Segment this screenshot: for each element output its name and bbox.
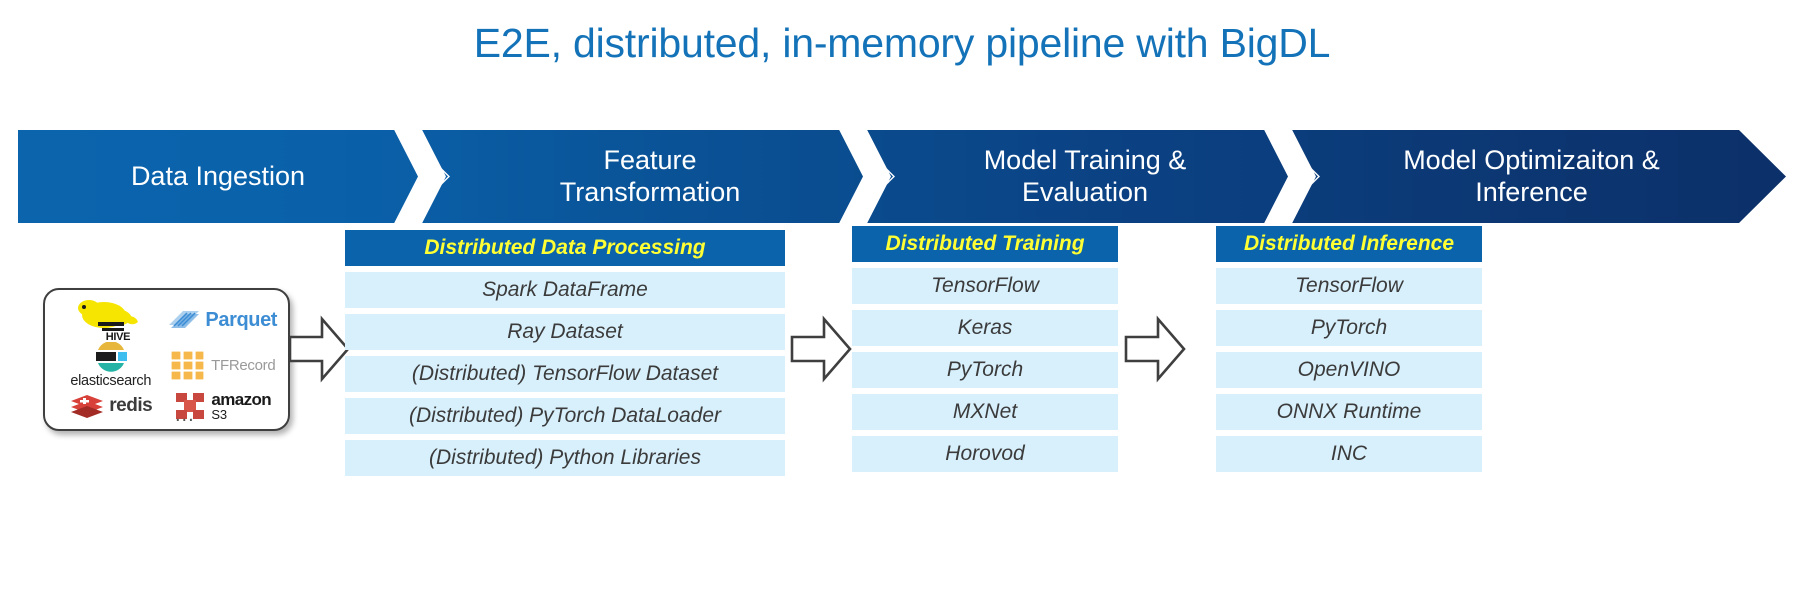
hive-label: HIVE xyxy=(106,331,130,343)
redis-label: redis xyxy=(109,395,152,417)
pipeline-stage-banner: Data Ingestion Feature Transformation Mo… xyxy=(18,130,1786,223)
parquet-logo: Parquet xyxy=(167,307,277,333)
tfrecord-logo: TFRecord xyxy=(169,349,275,383)
elasticsearch-icon xyxy=(94,342,128,372)
stack-header: Distributed Data Processing xyxy=(345,230,785,266)
stage-label: Model Optimizaiton & Inference xyxy=(1403,145,1660,208)
stack-row[interactable]: TensorFlow xyxy=(1216,268,1482,304)
flow-arrow-transform-to-training xyxy=(790,313,852,390)
stack-distributed-inference: Distributed Inference TensorFlow PyTorch… xyxy=(1216,226,1482,472)
page-title: E2E, distributed, in-memory pipeline wit… xyxy=(0,20,1804,67)
stack-row[interactable]: (Distributed) Python Libraries xyxy=(345,440,785,476)
stage-model-optimization-inference[interactable]: Model Optimizaiton & Inference xyxy=(1273,130,1786,223)
parquet-icon xyxy=(167,307,201,333)
stack-row[interactable]: (Distributed) TensorFlow Dataset xyxy=(345,356,785,392)
stack-row[interactable]: Ray Dataset xyxy=(345,314,785,350)
stack-row[interactable]: PyTorch xyxy=(1216,310,1482,346)
stack-header: Distributed Inference xyxy=(1216,226,1482,262)
stack-distributed-data-processing: Distributed Data Processing Spark DataFr… xyxy=(345,230,785,476)
stack-row[interactable]: MXNet xyxy=(852,394,1118,430)
stage-model-training-evaluation[interactable]: Model Training & Evaluation xyxy=(848,130,1318,223)
elasticsearch-logo: elasticsearch xyxy=(70,342,151,389)
stack-row[interactable]: INC xyxy=(1216,436,1482,472)
stack-row[interactable]: Horovod xyxy=(852,436,1118,472)
amazon-label: amazon xyxy=(211,391,271,408)
flow-arrow-training-to-inference xyxy=(1124,313,1186,390)
stack-header: Distributed Training xyxy=(852,226,1118,262)
redis-icon xyxy=(69,393,105,419)
data-sources-box: HIVE Parquet xyxy=(43,288,290,431)
stage-data-ingestion[interactable]: Data Ingestion xyxy=(18,130,448,223)
hive-logo: HIVE xyxy=(74,298,148,342)
stack-row[interactable]: OpenVINO xyxy=(1216,352,1482,388)
stage-label: Feature Transformation xyxy=(560,145,741,208)
stack-row[interactable]: PyTorch xyxy=(852,352,1118,388)
stage-label: Model Training & Evaluation xyxy=(984,145,1187,208)
stack-row[interactable]: TensorFlow xyxy=(852,268,1118,304)
parquet-label: Parquet xyxy=(205,309,277,332)
s3-label: S3 xyxy=(211,408,271,421)
stack-row[interactable]: Spark DataFrame xyxy=(345,272,785,308)
stage-feature-transformation[interactable]: Feature Transformation xyxy=(403,130,893,223)
sources-ellipsis: ... xyxy=(175,404,195,427)
redis-logo: redis xyxy=(69,393,152,419)
tfrecord-label: TFRecord xyxy=(211,357,275,374)
stack-distributed-training: Distributed Training TensorFlow Keras Py… xyxy=(852,226,1118,472)
stack-row[interactable]: (Distributed) PyTorch DataLoader xyxy=(345,398,785,434)
stage-label: Data Ingestion xyxy=(131,161,305,192)
flow-arrow-ingestion-to-transform xyxy=(288,313,350,390)
stack-row[interactable]: Keras xyxy=(852,310,1118,346)
elasticsearch-label: elasticsearch xyxy=(70,373,151,389)
tfrecord-icon xyxy=(169,349,207,383)
stack-row[interactable]: ONNX Runtime xyxy=(1216,394,1482,430)
